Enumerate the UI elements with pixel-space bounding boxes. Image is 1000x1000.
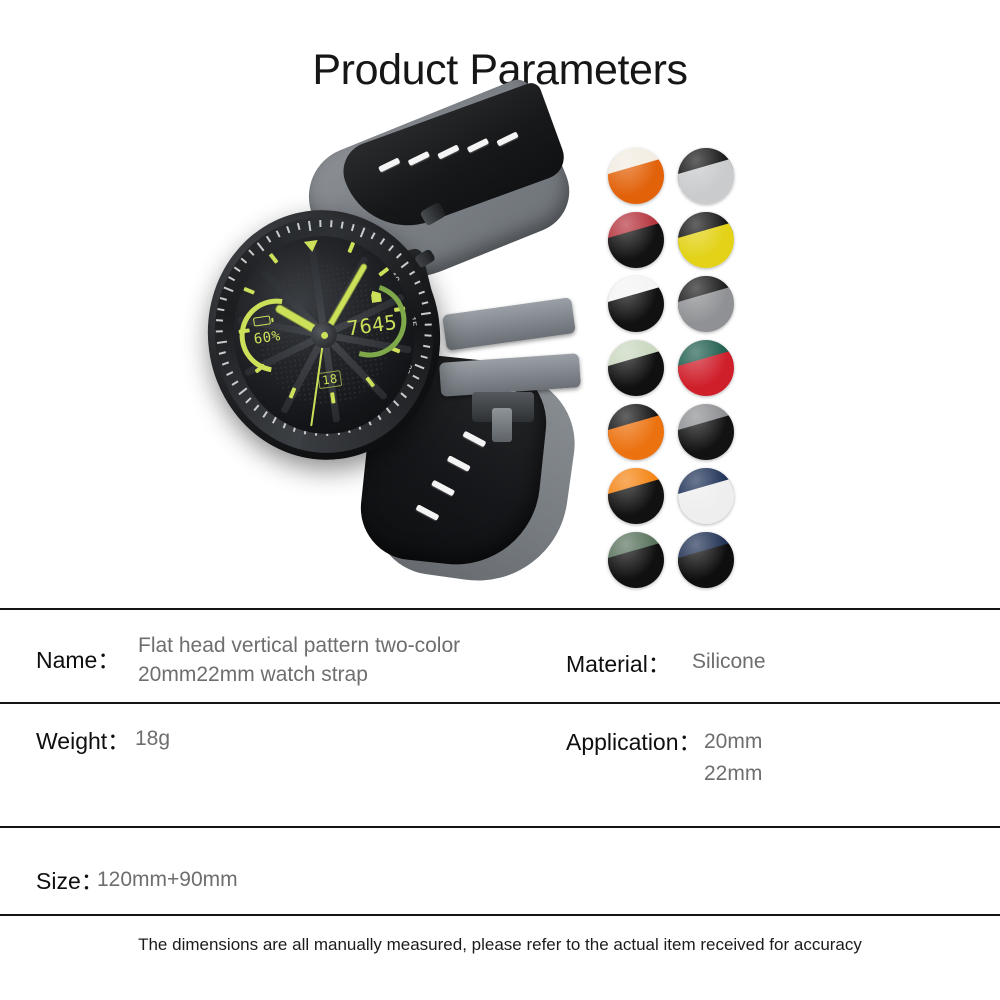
swatch-gloss bbox=[608, 468, 664, 524]
bezel-tick bbox=[414, 280, 421, 284]
color-swatch-black-silver[interactable] bbox=[678, 148, 734, 204]
bezel-tick bbox=[246, 398, 252, 404]
bezel-tick bbox=[217, 341, 227, 344]
strap-hole bbox=[467, 138, 489, 153]
bezel-tick bbox=[424, 334, 431, 336]
spec-label-application: Application： bbox=[566, 723, 702, 757]
bezel-tick bbox=[422, 301, 429, 304]
table-divider-4 bbox=[0, 914, 1000, 916]
spec-value-weight: 18g bbox=[135, 725, 170, 754]
dial-index bbox=[269, 253, 279, 264]
color-swatch-red-black[interactable] bbox=[608, 212, 664, 268]
bezel-tick bbox=[423, 345, 430, 348]
table-divider-3 bbox=[0, 826, 1000, 828]
bezel-tick bbox=[308, 221, 311, 231]
spec-label-material: Material： bbox=[566, 645, 671, 679]
swatch-gloss bbox=[608, 148, 664, 204]
swatch-gloss bbox=[678, 404, 734, 460]
swatch-gloss bbox=[678, 468, 734, 524]
color-swatch-black-grey[interactable] bbox=[678, 276, 734, 332]
strap-hole bbox=[431, 480, 455, 497]
color-swatch-grid[interactable] bbox=[608, 148, 734, 588]
color-swatch-white-black[interactable] bbox=[608, 276, 664, 332]
color-swatch-navy-white[interactable] bbox=[678, 468, 734, 524]
spec-value-name: Flat head vertical pattern two-color 20m… bbox=[138, 632, 538, 690]
bezel-tick bbox=[224, 287, 234, 293]
color-swatch-green-red[interactable] bbox=[678, 340, 734, 396]
bezel-tick bbox=[396, 252, 402, 258]
bezel-tick bbox=[228, 277, 235, 282]
swatch-gloss bbox=[678, 276, 734, 332]
swatch-gloss bbox=[608, 340, 664, 396]
strap-hole bbox=[415, 504, 439, 521]
bezel-tick bbox=[220, 297, 227, 300]
bezel-tick bbox=[216, 320, 223, 322]
strap-hole bbox=[437, 144, 459, 159]
bezel-tick bbox=[380, 238, 385, 245]
bezel-tick bbox=[393, 400, 399, 406]
bezel-tick bbox=[319, 220, 321, 227]
strap-hole bbox=[447, 455, 471, 472]
bezel-tick bbox=[409, 270, 416, 275]
color-swatch-black-orange[interactable] bbox=[608, 404, 664, 460]
color-swatch-black-yellow[interactable] bbox=[678, 212, 734, 268]
bezel-tick bbox=[351, 224, 354, 231]
table-divider-2 bbox=[0, 702, 1000, 704]
bezel-tick bbox=[216, 331, 223, 333]
bezel-tick bbox=[241, 258, 247, 264]
strap-hole bbox=[462, 431, 486, 448]
color-swatch-army-green-black[interactable] bbox=[608, 532, 664, 588]
dial-index bbox=[243, 287, 255, 295]
bezel-tick bbox=[248, 250, 254, 256]
dial-index bbox=[378, 267, 389, 277]
strap-keeper-upper bbox=[442, 297, 576, 351]
color-swatch-navy-black[interactable] bbox=[678, 532, 734, 588]
bezel-tick bbox=[330, 220, 332, 227]
spec-value-material: Silicone bbox=[692, 648, 766, 677]
bezel-tick bbox=[266, 236, 271, 243]
bezel-tick bbox=[238, 387, 247, 395]
bezel-tick bbox=[418, 290, 425, 294]
bezel-tick bbox=[257, 242, 265, 251]
spec-value-application: 20mm 22mm bbox=[704, 726, 762, 789]
swatch-gloss bbox=[678, 340, 734, 396]
measurement-disclaimer: The dimensions are all manually measured… bbox=[0, 935, 1000, 955]
dial-hub-dot bbox=[320, 331, 328, 339]
bezel-tick bbox=[254, 405, 260, 411]
table-divider-1 bbox=[0, 608, 1000, 610]
bezel-tick bbox=[341, 221, 344, 228]
bezel-tick bbox=[425, 323, 432, 325]
bezel-tick bbox=[388, 245, 394, 251]
bezel-tick bbox=[371, 232, 376, 239]
swatch-gloss bbox=[678, 212, 734, 268]
bezel-tick bbox=[232, 381, 239, 386]
color-swatch-orange-black[interactable] bbox=[608, 468, 664, 524]
bezel-tick bbox=[234, 267, 241, 272]
spec-value-size: 120mm+90mm bbox=[97, 866, 238, 895]
strap-hole bbox=[496, 131, 518, 146]
bezel-tick bbox=[222, 362, 229, 366]
swatch-gloss bbox=[608, 212, 664, 268]
spec-label-name: Name： bbox=[36, 641, 120, 675]
color-swatch-orange-cream[interactable] bbox=[608, 148, 664, 204]
bezel-tick bbox=[415, 364, 425, 370]
strap-buckle-tongue bbox=[492, 408, 512, 442]
bezel-tick bbox=[413, 375, 420, 380]
swatch-gloss bbox=[608, 404, 664, 460]
bezel-tick bbox=[401, 392, 407, 398]
swatch-gloss bbox=[608, 276, 664, 332]
bezel-tick bbox=[263, 411, 268, 418]
bezel-tick bbox=[401, 261, 410, 269]
strap-hole bbox=[378, 157, 400, 172]
bezel-tick bbox=[360, 227, 366, 237]
bezel-tick bbox=[219, 352, 226, 355]
swatch-gloss bbox=[678, 532, 734, 588]
swatch-gloss bbox=[608, 532, 664, 588]
bezel-tick bbox=[226, 372, 233, 376]
bezel-tick bbox=[421, 312, 431, 315]
bezel-tick bbox=[421, 355, 428, 358]
bezel-tick bbox=[297, 223, 300, 230]
strap-hole bbox=[408, 151, 430, 166]
product-parameters-page: Product Parameters 05101520253035 bbox=[0, 0, 1000, 1000]
watch-product-photo: 05101520253035 60% 7645 18 bbox=[200, 140, 600, 570]
color-swatch-grey-black[interactable] bbox=[678, 404, 734, 460]
bezel-tick bbox=[286, 226, 290, 233]
spec-label-size: Size： bbox=[36, 862, 104, 896]
dial-index bbox=[347, 242, 355, 254]
bezel-tick bbox=[276, 231, 280, 238]
product-image-area: 05101520253035 60% 7645 18 bbox=[0, 120, 1000, 590]
bezel-tick bbox=[407, 384, 414, 389]
bezel-tick bbox=[217, 308, 224, 311]
color-swatch-mint-black[interactable] bbox=[608, 340, 664, 396]
spec-label-weight: Weight： bbox=[36, 722, 130, 756]
dial-top-marker-icon bbox=[304, 240, 319, 253]
dial-date-value: 18 bbox=[317, 370, 342, 389]
swatch-gloss bbox=[678, 148, 734, 204]
